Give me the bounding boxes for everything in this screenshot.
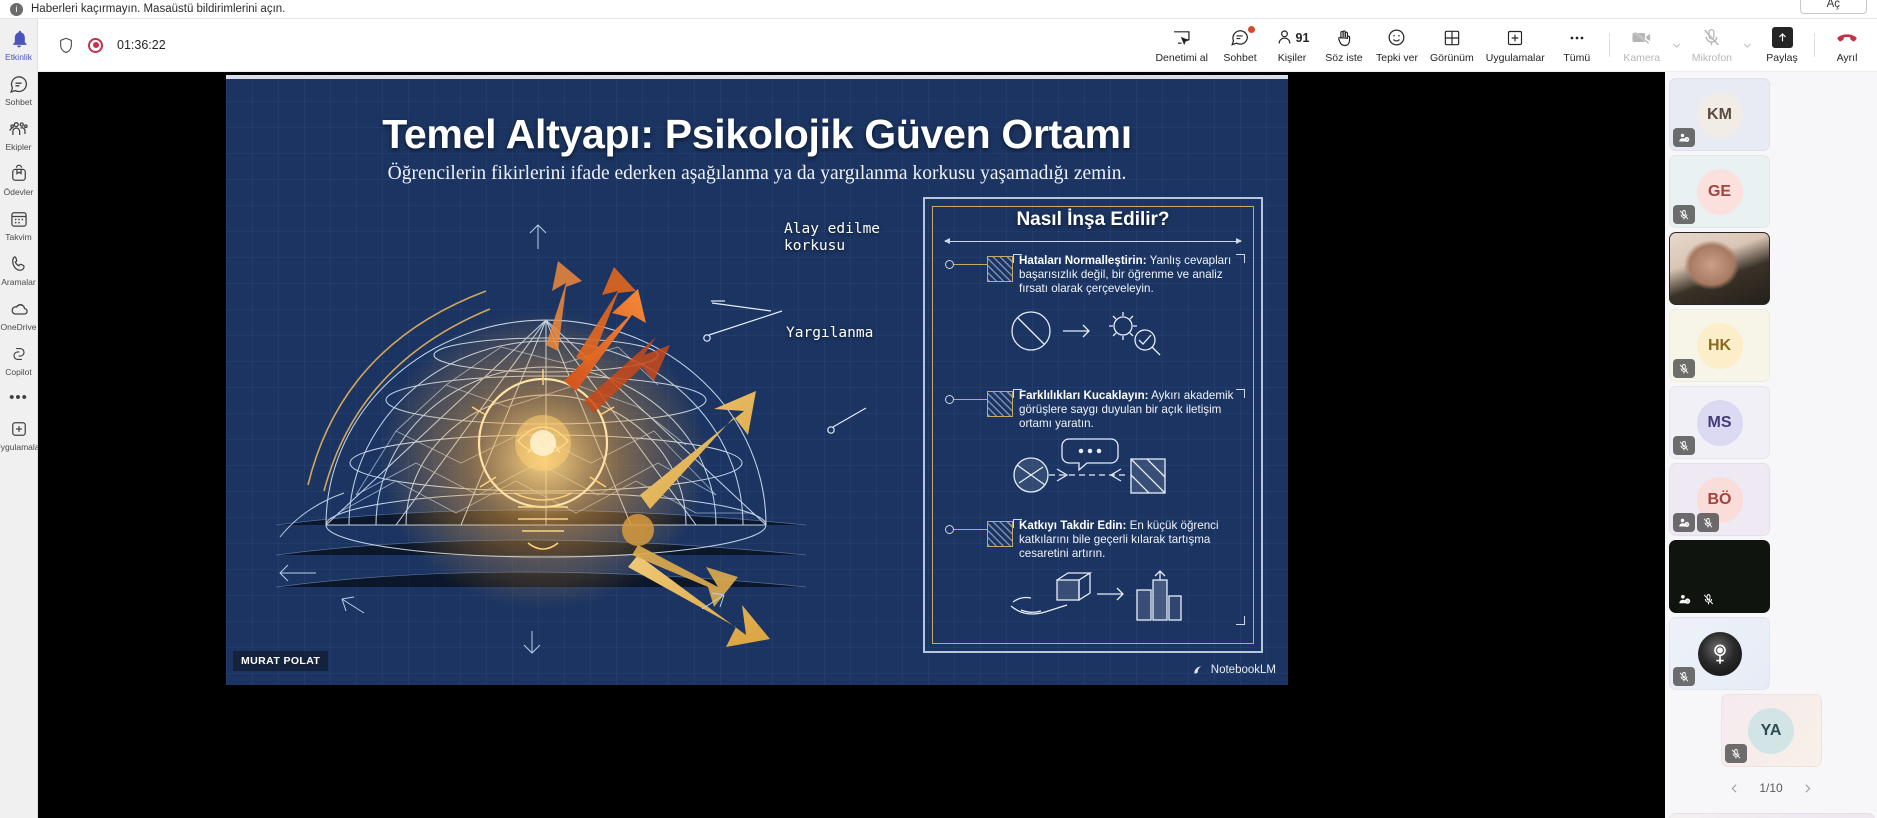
meeting-timer: 01:36:22 [117,38,166,52]
button-label: Görünüm [1430,52,1474,64]
presenter-icon: ? [1673,590,1695,609]
participant-tile-ms[interactable]: MS [1669,386,1770,459]
mic-off-icon [1697,590,1719,609]
step-text: Katkıyı Takdir Edin: En küçük öğrenci ka… [1019,519,1245,562]
button-label: Söz iste [1325,52,1362,64]
corner-bracket [1236,254,1245,263]
share-button[interactable]: Paylaş [1756,19,1808,71]
participant-tile-hk[interactable]: HK [1669,309,1770,382]
microphone-button[interactable]: Mikrofon [1686,19,1738,71]
mic-off-icon [1673,436,1695,455]
shared-content-stage: Temel Altyapı: Psikolojik Güven Ortamı Ö… [38,72,1665,818]
slide-title: Temel Altyapı: Psikolojik Güven Ortamı [226,111,1288,158]
corner-bracket [1013,254,1022,263]
step-leader-line [954,529,987,530]
presentation-slide[interactable]: Temel Altyapı: Psikolojik Güven Ortamı Ö… [226,75,1288,685]
leave-meeting-button[interactable]: Ayrıl [1821,19,1873,71]
ellipsis-icon [1567,27,1587,49]
mic-off-icon [1673,359,1695,378]
sidebar-item-label: Ödevler [4,187,34,197]
ellipsis-icon[interactable]: ••• [9,393,28,403]
left-navigation-rail: Etkinlik Sohbet Ekipler Ödevler Takvim [0,19,38,818]
sidebar-item-takvim[interactable]: Takvim [0,207,38,242]
hatched-square-icon [987,521,1013,547]
teams-icon [7,117,31,141]
tile-status-chips [1673,667,1695,686]
mic-off-icon [1673,667,1695,686]
plus-box-icon [7,417,31,441]
sidebar-item-aramalar[interactable]: Aramalar [0,252,38,287]
participant-count: 91 [1296,31,1310,45]
notebooklm-watermark: NotebookLM [1192,663,1276,677]
take-control-button[interactable]: Denetimi al [1149,19,1214,71]
camera-options-chevron-down-icon[interactable] [1668,19,1686,71]
step-node-icon [945,395,954,404]
chat-unread-badge [1248,26,1255,33]
plus-box-icon [1505,27,1525,49]
meeting-actions: Denetimi al Sohbet 91 Kişiler [1149,19,1877,72]
sidebar-item-uygulamalar[interactable]: Uygulamalar [0,417,38,452]
button-label: Sohbet [1223,52,1256,64]
record-icon [88,38,103,53]
participant-tile-ya[interactable]: YA [1721,694,1822,767]
hatched-square-icon [987,391,1013,417]
participants-panel: KM ? GE HK [1665,72,1877,818]
step-leader-line [954,399,987,400]
chat-icon [1229,27,1250,49]
step-illustration [1005,567,1245,625]
organization-logo-icon [1698,632,1742,676]
step-lead-label: Hataları Normalleştirin: [1019,254,1147,267]
phone-icon [7,252,31,276]
info-icon: i [10,3,23,16]
raise-hand-button[interactable]: Söz iste [1318,19,1370,71]
sidebar-item-label: OneDrive [1,322,37,332]
tile-status-chips [1673,436,1695,455]
callout-alay-edilme-korkusu: Alay edilme korkusu [784,221,880,255]
step-lead-label: Farklılıkları Kucaklayın: [1019,389,1149,402]
meeting-status-group: 01:36:22 [38,36,166,55]
notification-message: Haberleri kaçırmayın. Masaüstü bildiriml… [31,3,285,15]
sidebar-item-label: Copilot [5,367,31,377]
corner-bracket [1013,519,1022,528]
panel-step: Hataları Normalleştirin: Yanlış cevaplar… [945,254,1245,360]
chevron-right-icon[interactable] [1801,782,1814,795]
corner-bracket [1236,616,1245,625]
step-illustration [1005,302,1245,360]
apps-button[interactable]: Uygulamalar [1480,19,1551,71]
tile-status-chips: ? [1673,513,1719,532]
assignments-icon [7,162,31,186]
enable-notifications-button[interactable]: Aç [1800,0,1867,14]
sidebar-item-label: Takvim [5,232,31,242]
slide-subtitle: Öğrencilerin fikirlerini ifade ederken a… [226,163,1288,185]
button-label: Uygulamalar [1486,52,1545,64]
spotlight-participant-tile[interactable]: SG [1669,813,1875,818]
people-button[interactable]: 91 Kişiler [1266,19,1318,71]
sidebar-item-label: Uygulamalar [0,442,42,452]
tile-status-chips: ? [1673,590,1719,609]
copilot-icon [7,342,31,366]
avatar: HK [1697,323,1743,369]
hangup-icon [1835,27,1859,49]
toolbar-divider [1609,33,1610,57]
raise-hand-icon [1334,27,1354,49]
callout-yargilanma: Yargılanma [786,325,873,342]
button-label: Tümü [1563,52,1590,64]
people-icon: 91 [1275,27,1310,49]
mic-off-icon [1697,513,1719,532]
svg-text:?: ? [1686,523,1688,527]
participant-tile-bo[interactable]: BÖ ? [1669,463,1770,536]
button-label: Denetimi al [1155,52,1208,64]
chevron-left-icon[interactable] [1728,782,1741,795]
calendar-icon [7,207,31,231]
svg-text:?: ? [1686,138,1688,142]
sidebar-item-copilot[interactable]: Copilot [0,342,38,377]
avatar: KM [1697,92,1743,138]
mic-off-icon [1673,205,1695,224]
step-node-icon [945,525,954,534]
corner-bracket [1013,389,1022,398]
shield-icon [58,36,74,55]
desktop-notification-bar: i Haberleri kaçırmayın. Masaüstü bildiri… [0,0,1877,19]
button-label: Kişiler [1278,52,1307,64]
sidebar-item-sohbet[interactable]: Sohbet [0,72,38,107]
share-screen-icon [1772,27,1793,49]
button-label: Kamera [1623,52,1660,64]
give-control-icon [1171,27,1192,49]
sidebar-item-etkinlik[interactable]: Etkinlik [0,27,38,62]
sidebar-item-label: Aramalar [1,277,35,287]
avatar: GE [1697,169,1743,215]
step-text: Hataları Normalleştirin: Yanlış cevaplar… [1019,254,1245,297]
how-to-build-panel: Nasıl İnşa Edilir? Hataları Normalleştir… [923,197,1263,653]
panel-heading: Nasıl İnşa Edilir? [925,209,1261,231]
bell-icon [7,27,31,51]
participant-tile-video[interactable] [1669,232,1770,305]
corner-bracket [1236,389,1245,398]
participant-tile-dark[interactable]: ? [1669,540,1770,613]
author-watermark: MURAT POLAT [233,651,328,671]
button-label: Paylaş [1766,52,1798,64]
button-label: Ayrıl [1837,52,1858,64]
camera-off-icon [1630,27,1653,49]
participants-pager: 1/10 [1669,773,1873,803]
teams-meeting-window: i Haberleri kaçırmayın. Masaüstü bildiri… [0,0,1877,818]
presenter-icon: ? [1673,513,1695,532]
chat-button[interactable]: Sohbet [1214,19,1266,71]
panel-step: Farklılıkları Kucaklayın: Aykırı akademi… [945,389,1245,495]
mic-off-icon [1725,744,1747,763]
step-lead-label: Katkıyı Takdir Edin: [1019,519,1126,532]
tile-status-chips [1725,744,1747,763]
sidebar-item-onedrive[interactable]: OneDrive [0,297,38,332]
panel-measure-rule [945,241,1241,242]
tile-status-chips: ? [1673,128,1695,147]
step-leader-line [954,264,987,265]
pager-value: 1/10 [1759,781,1782,795]
button-label: Mikrofon [1692,52,1732,64]
tile-status-chips [1673,359,1695,378]
avatar: YA [1748,708,1794,754]
avatar: MS [1697,400,1743,446]
participant-tile-km[interactable]: KM ? [1669,78,1770,151]
step-node-icon [945,260,954,269]
panel-step: Katkıyı Takdir Edin: En küçük öğrenci ka… [945,519,1245,625]
sidebar-item-label: Sohbet [5,97,32,107]
reactions-icon [1386,27,1407,49]
hatched-square-icon [987,256,1013,282]
step-text: Farklılıkları Kucaklayın: Aykırı akademi… [1019,389,1245,432]
notebooklm-label: NotebookLM [1211,664,1276,676]
microphone-options-chevron-down-icon[interactable] [1738,19,1756,71]
sidebar-item-label: Ekipler [6,142,32,152]
mic-off-icon [1701,27,1722,49]
sidebar-item-odevler[interactable]: Ödevler [0,162,38,197]
presenter-icon: ? [1673,128,1695,147]
view-button[interactable]: Görünüm [1424,19,1480,71]
onedrive-icon [7,297,31,321]
video-feed [1670,233,1769,304]
participant-tile-logo[interactable] [1669,617,1770,690]
chat-icon [7,72,31,96]
meeting-toolbar: 01:36:22 Denetimi al Sohbet 91 [38,19,1877,72]
slide-top-rule [226,75,1288,79]
sidebar-item-ekipler[interactable]: Ekipler [0,117,38,152]
reactions-button[interactable]: Tepki ver [1370,19,1424,71]
notebooklm-logo-icon [1192,663,1206,677]
camera-button[interactable]: Kamera [1616,19,1668,71]
button-label: Tepki ver [1376,52,1418,64]
more-options-button[interactable]: Tümü [1551,19,1603,71]
step-illustration [1005,437,1245,495]
sidebar-item-label: Etkinlik [5,52,32,62]
toolbar-divider [1814,33,1815,57]
tile-status-chips [1673,205,1695,224]
dome-illustration [246,195,846,665]
participant-tile-ge[interactable]: GE [1669,155,1770,228]
view-grid-icon [1442,27,1462,49]
participant-tile-grid: KM ? GE HK [1669,78,1873,767]
